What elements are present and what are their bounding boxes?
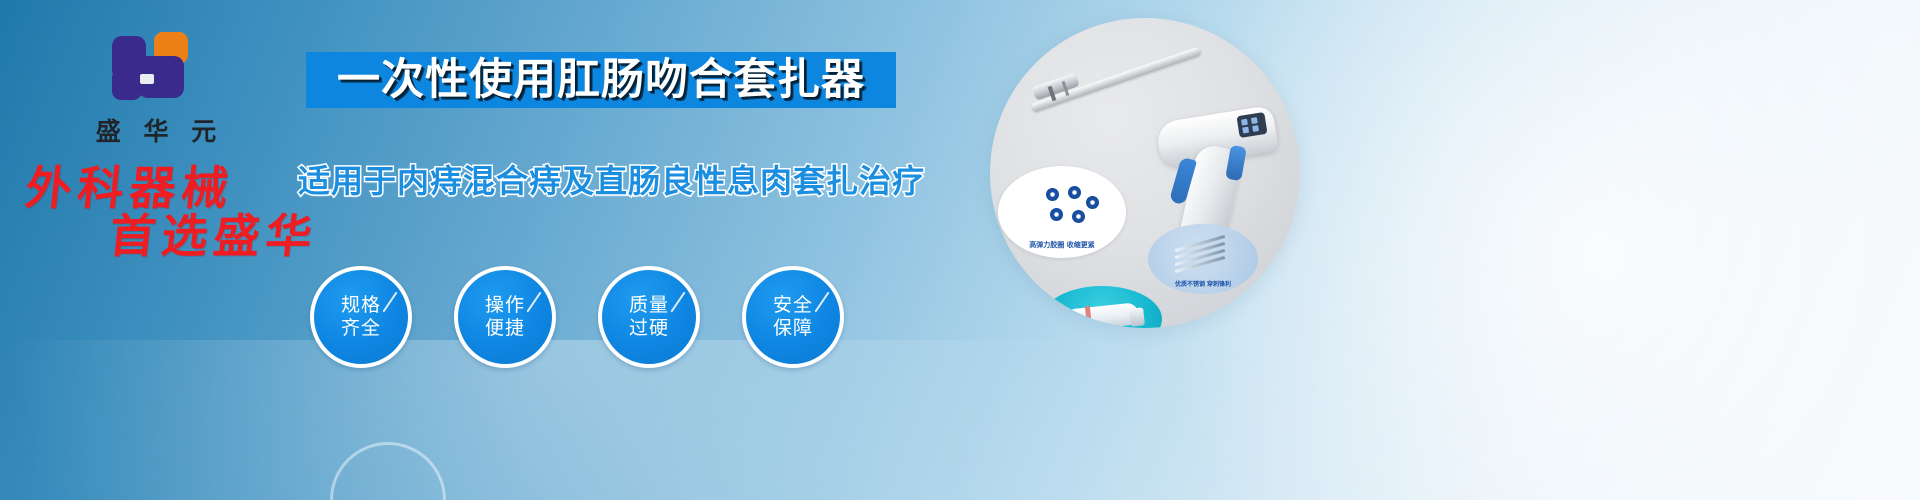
feature-circle-3-line1: 质量 xyxy=(629,294,669,317)
brand-logo[interactable]: 盛 华 元 xyxy=(66,28,246,148)
feature-circle-4-line2: 保障 xyxy=(773,317,813,340)
rubber-band-icon xyxy=(1072,210,1085,223)
feature-circle-2-line1: 操作 xyxy=(485,294,525,317)
feature-circle-2[interactable]: 操作 便捷 xyxy=(454,266,556,368)
rubber-band-icon xyxy=(1068,186,1081,199)
rubber-band-icon xyxy=(1050,208,1063,221)
slash-accent-icon xyxy=(382,291,397,312)
feature-circle-4[interactable]: 安全 保障 xyxy=(742,266,844,368)
logo-shape-bottom xyxy=(112,72,142,100)
product-photo: 高弹力胶圈 收缩更紧 优质不锈钢 穿刺锋利 xyxy=(990,18,1300,328)
promo-banner: 盛 华 元 外科器械 首选盛华 一次性使用肛肠吻合套扎器 适用于内痔混合痔及直肠… xyxy=(0,0,1920,500)
keypad-key xyxy=(1242,127,1249,134)
feature-circle-4-line1: 安全 xyxy=(773,294,813,317)
page-title: 一次性使用肛肠吻合套扎器 xyxy=(306,50,896,110)
cartridge-tube-cap xyxy=(1129,307,1145,326)
shenghuayuan-logo-mark-icon xyxy=(110,28,202,106)
calligraphy-line-2: 首选盛华 xyxy=(107,200,322,266)
device-keypad xyxy=(1236,112,1267,138)
feature-circle-3-line2: 过硬 xyxy=(629,317,669,340)
product-photo-inner: 高弹力胶圈 收缩更紧 优质不锈钢 穿刺锋利 xyxy=(990,18,1300,328)
feature-circle-1[interactable]: 规格 齐全 xyxy=(310,266,412,368)
brand-name-text: 盛 华 元 xyxy=(66,112,246,148)
keypad-key xyxy=(1241,119,1248,126)
page-subtitle: 适用于内痔混合痔及直肠良性息肉套扎治疗 xyxy=(298,156,898,202)
feature-circle-2-line2: 便捷 xyxy=(485,317,525,340)
feature-circle-3[interactable]: 质量 过硬 xyxy=(598,266,700,368)
cartridge-tube xyxy=(1065,302,1139,328)
keypad-key xyxy=(1252,125,1259,132)
rubber-band-inset: 高弹力胶圈 收缩更紧 xyxy=(998,166,1126,258)
decorative-circle xyxy=(330,442,446,500)
rubber-band-icon xyxy=(1086,196,1099,209)
slash-accent-icon xyxy=(814,291,829,312)
logo-shape-notch xyxy=(140,74,154,84)
needles-inset: 优质不锈钢 穿刺锋利 xyxy=(1148,224,1258,294)
feature-circle-list: 规格 齐全 操作 便捷 质量 过硬 安全 保障 xyxy=(310,266,844,368)
rubber-band-icon xyxy=(1046,188,1059,201)
feature-circle-1-line2: 齐全 xyxy=(341,317,381,340)
slash-accent-icon xyxy=(526,291,541,312)
feature-circle-1-line1: 规格 xyxy=(341,294,381,317)
slash-accent-icon xyxy=(670,291,685,312)
rubber-band-inset-caption: 高弹力胶圈 收缩更紧 xyxy=(998,240,1126,250)
needles-inset-caption: 优质不锈钢 穿刺锋利 xyxy=(1148,279,1258,288)
cartridge-inset xyxy=(1042,286,1162,328)
keypad-key xyxy=(1251,117,1258,124)
